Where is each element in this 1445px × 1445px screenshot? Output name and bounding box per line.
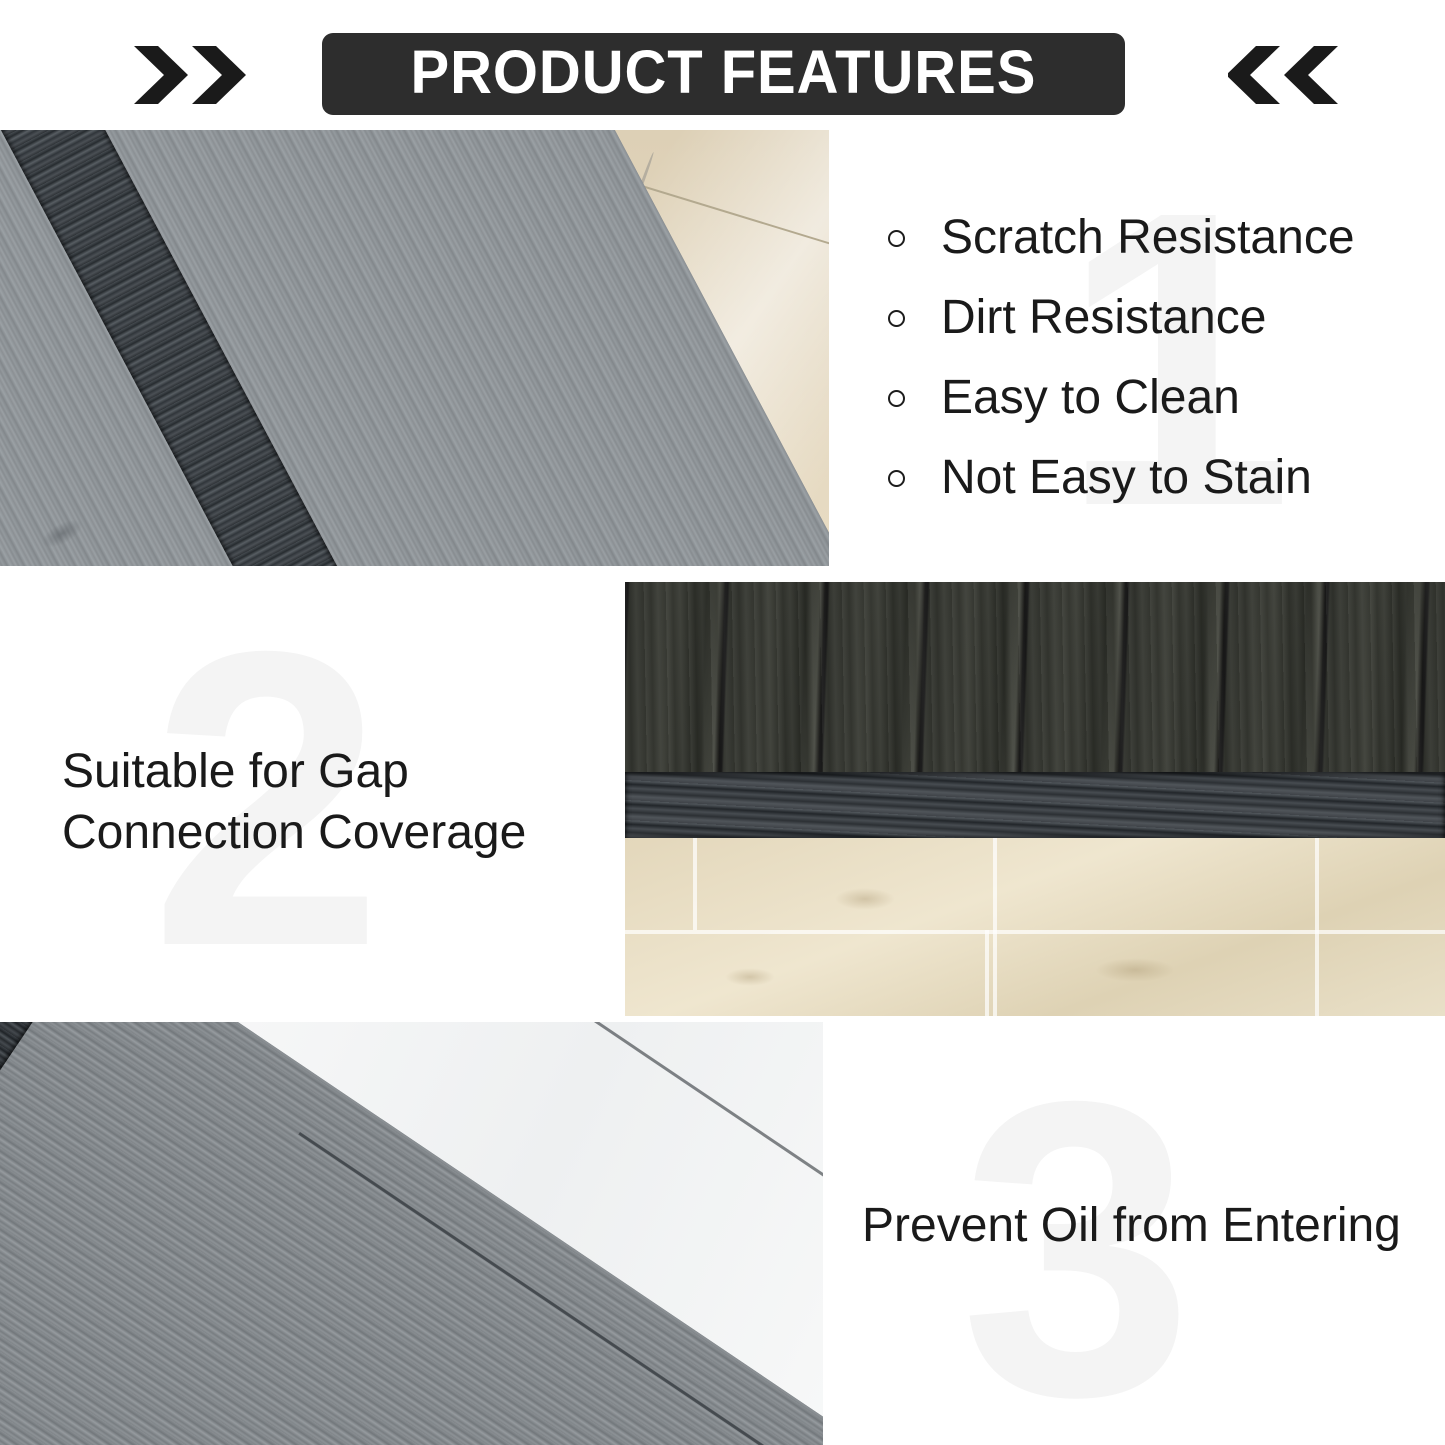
- hollow-circle-bullet-icon: [888, 390, 905, 407]
- photo-panel-3: [0, 1022, 823, 1445]
- dark-wood-planks: [625, 582, 1445, 778]
- tile-mottling: [725, 968, 775, 986]
- feature-list-section-1: Scratch Resistance Dirt Resistance Easy …: [888, 198, 1428, 518]
- transition-strip: [625, 772, 1445, 840]
- wood-grain-overlay: [625, 582, 1445, 778]
- tile-mottling: [1095, 958, 1175, 982]
- caption-text: Suitable for Gap Connection Coverage: [62, 742, 582, 864]
- caption-line: Prevent Oil from Entering: [862, 1196, 1442, 1257]
- double-chevron-left-icon: [1228, 44, 1340, 106]
- double-chevron-right-icon: [132, 44, 252, 106]
- tile-mottling: [835, 888, 895, 910]
- feature-item: Not Easy to Stain: [888, 438, 1428, 518]
- caption-line: Suitable for Gap: [62, 742, 582, 803]
- feature-label: Dirt Resistance: [941, 294, 1266, 342]
- wood-knot: [38, 514, 87, 553]
- header: PRODUCT FEATURES: [0, 0, 1445, 130]
- page-title: PRODUCT FEATURES: [411, 42, 1037, 106]
- title-bar: PRODUCT FEATURES: [322, 33, 1125, 115]
- hollow-circle-bullet-icon: [888, 230, 905, 247]
- caption-section-3: Prevent Oil from Entering: [862, 1196, 1442, 1257]
- feature-item: Dirt Resistance: [888, 278, 1428, 358]
- tile-grout-line: [985, 930, 989, 1016]
- product-features-infographic: PRODUCT FEATURES 1 Scratch Resistance: [0, 0, 1445, 1445]
- caption-section-2: Suitable for Gap Connection Coverage: [62, 742, 582, 864]
- hollow-circle-bullet-icon: [888, 310, 905, 327]
- tile-grout-line: [625, 930, 1445, 934]
- photo-panel-2: [625, 582, 1445, 1016]
- caption-text: Prevent Oil from Entering: [862, 1196, 1442, 1257]
- tile-grout-line: [1315, 838, 1319, 1016]
- feature-label: Scratch Resistance: [941, 214, 1355, 262]
- caption-line: Connection Coverage: [62, 803, 582, 864]
- tile-grout-line: [993, 838, 997, 1016]
- feature-item: Easy to Clean: [888, 358, 1428, 438]
- feature-label: Not Easy to Stain: [941, 454, 1312, 502]
- photo-panel-1: [0, 130, 829, 566]
- hollow-circle-bullet-icon: [888, 470, 905, 487]
- travertine-tile-surface: [625, 838, 1445, 1016]
- feature-item: Scratch Resistance: [888, 198, 1428, 278]
- tile-grout-line: [693, 838, 697, 930]
- feature-label: Easy to Clean: [941, 374, 1240, 422]
